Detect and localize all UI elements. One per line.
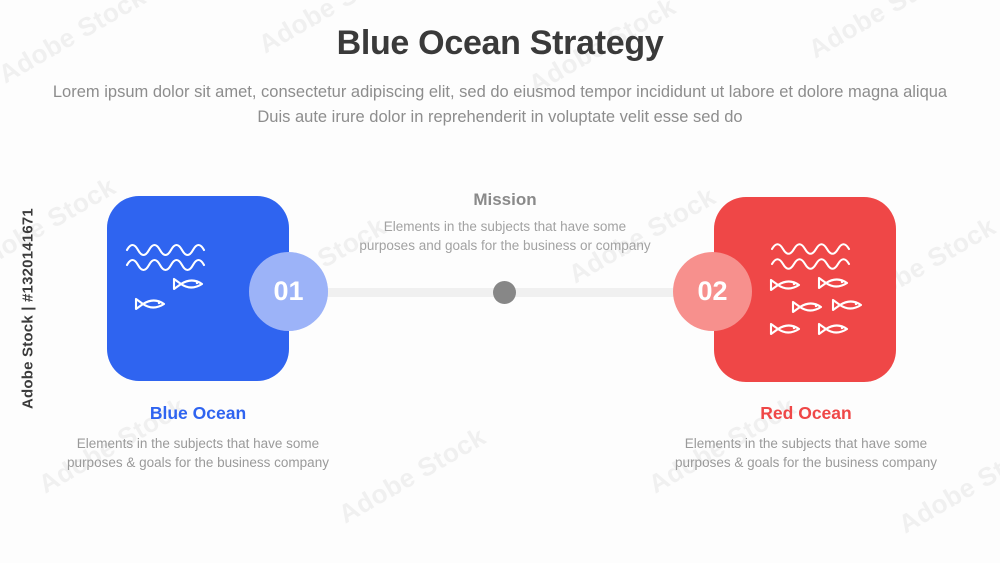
connector-center-dot bbox=[493, 281, 516, 304]
watermark-tile: Adobe Stock bbox=[333, 421, 491, 530]
mission-description: Elements in the subjects that have some … bbox=[355, 217, 655, 255]
stock-credit-label: Adobe Stock | #1320141671 bbox=[20, 179, 37, 439]
mission-block: Mission Elements in the subjects that ha… bbox=[355, 190, 655, 255]
ocean-six-fish-icon bbox=[766, 237, 881, 347]
label-title-red-ocean: Red Ocean bbox=[656, 403, 956, 424]
infographic-canvas: Adobe Stock Adobe Stock Adobe Stock Adob… bbox=[0, 0, 1000, 563]
page-title: Blue Ocean Strategy bbox=[0, 24, 1000, 63]
ocean-two-fish-icon bbox=[121, 236, 231, 326]
label-description-blue-ocean: Elements in the subjects that have some … bbox=[48, 434, 348, 472]
page-subtitle: Lorem ipsum dolor sit amet, consectetur … bbox=[40, 80, 960, 130]
badge-01[interactable]: 01 bbox=[249, 252, 328, 331]
badge-02[interactable]: 02 bbox=[673, 252, 752, 331]
label-block-blue-ocean: Blue Ocean Elements in the subjects that… bbox=[48, 403, 348, 472]
label-title-blue-ocean: Blue Ocean bbox=[48, 403, 348, 424]
mission-title: Mission bbox=[355, 190, 655, 210]
label-description-red-ocean: Elements in the subjects that have some … bbox=[656, 434, 956, 472]
label-block-red-ocean: Red Ocean Elements in the subjects that … bbox=[656, 403, 956, 472]
watermark-tile: Adobe Stock bbox=[0, 171, 121, 280]
